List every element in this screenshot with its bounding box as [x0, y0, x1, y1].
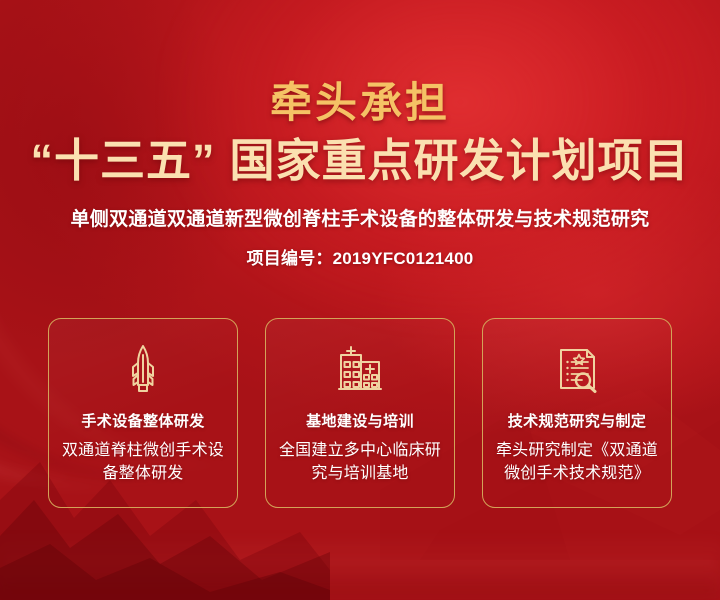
rocket-icon [115, 341, 171, 397]
headline-primary: 牵头承担 [0, 82, 720, 124]
headline-secondary-main: 国家重点研发计划项目 [230, 135, 690, 186]
feature-card-1[interactable]: 手术设备整体研发 双通道脊柱微创手术设备整体研发 [48, 318, 238, 508]
project-subtitle: 单侧双通道双通道新型微创脊柱手术设备的整体研发与技术规范研究 [0, 204, 720, 231]
feature-card-1-title: 手术设备整体研发 [81, 410, 204, 431]
feature-card-2-title: 基地建设与培训 [306, 410, 414, 431]
feature-card-3-description: 牵头研究制定《双通道微创手术技术规范》 [483, 440, 671, 485]
feature-card-list: 手术设备整体研发 双通道脊柱微创手术设备整体研发 [48, 318, 672, 508]
feature-card-2-description: 全国建立多中心临床研究与培训基地 [266, 440, 454, 485]
feature-card-3[interactable]: 技术规范研究与制定 牵头研究制定《双通道微创手术技术规范》 [482, 318, 672, 508]
background-light-band [0, 536, 720, 596]
promo-banner: 牵头承担 “十三五”国家重点研发计划项目 单侧双通道双通道新型微创脊柱手术设备的… [0, 0, 720, 600]
document-search-icon [549, 341, 605, 397]
banner-header: 牵头承担 “十三五”国家重点研发计划项目 单侧双通道双通道新型微创脊柱手术设备的… [0, 0, 720, 269]
headline-secondary: “十三五”国家重点研发计划项目 [0, 137, 720, 185]
feature-card-2[interactable]: 基地建设与培训 全国建立多中心临床研究与培训基地 [265, 318, 455, 508]
feature-card-1-description: 双通道脊柱微创手术设备整体研发 [49, 440, 237, 485]
hospital-building-icon [332, 341, 388, 397]
project-number: 项目编号：2019YFC0121400 [0, 244, 720, 269]
feature-card-3-title: 技术规范研究与制定 [508, 410, 647, 431]
background-bottom-shade [0, 560, 720, 600]
headline-secondary-quoted: “十三五” [30, 135, 215, 186]
